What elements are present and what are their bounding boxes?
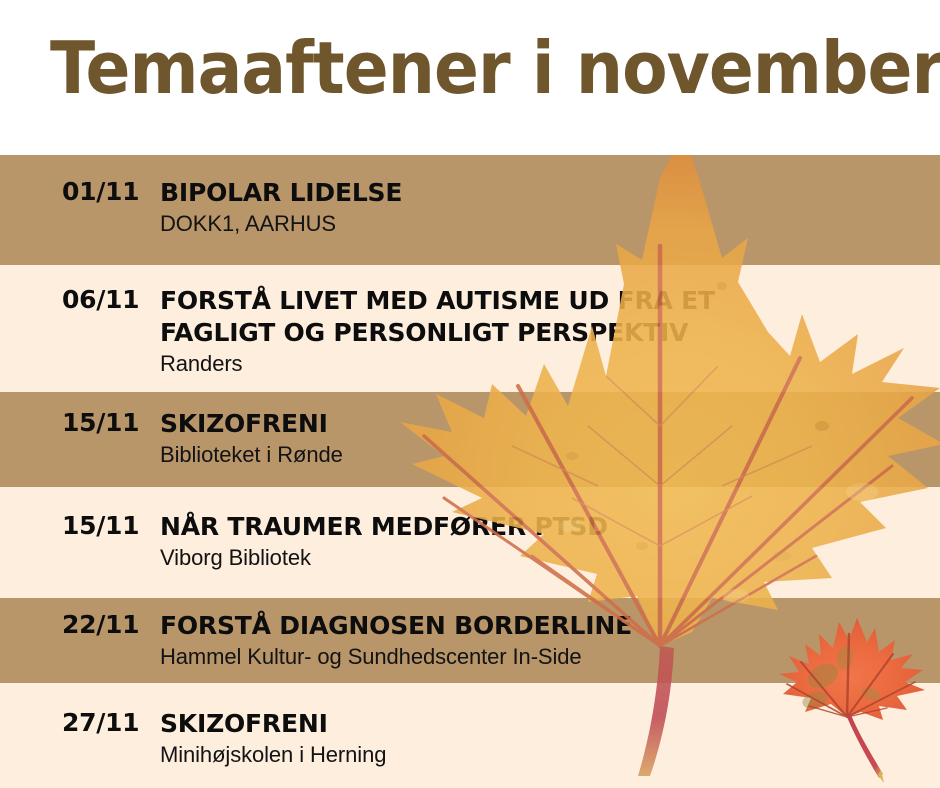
- poster-canvas: 01/11 BIPOLAR LIDELSE DOKK1, AARHUS 06/1…: [0, 0, 940, 788]
- table-row: 22/11 FORSTÅ DIAGNOSEN BORDERLINE Hammel…: [0, 598, 940, 683]
- title-banner: Temaaftener i november: [0, 0, 940, 155]
- row-event-title: FORSTÅ LIVET MED AUTISME UD FRA ET FAGLI…: [160, 285, 920, 349]
- row-event-title: SKIZOFRENI: [160, 408, 920, 440]
- row-date: 06/11: [0, 285, 160, 315]
- table-row: 01/11 BIPOLAR LIDELSE DOKK1, AARHUS: [0, 155, 940, 265]
- page-title: Temaaftener i november: [50, 25, 940, 111]
- row-body: FORSTÅ LIVET MED AUTISME UD FRA ET FAGLI…: [160, 285, 940, 378]
- row-body: SKIZOFRENI Minihøjskolen i Herning: [160, 708, 940, 769]
- row-body: BIPOLAR LIDELSE DOKK1, AARHUS: [160, 177, 940, 238]
- row-date: 22/11: [0, 610, 160, 640]
- row-date: 27/11: [0, 708, 160, 738]
- table-row: 15/11 NÅR TRAUMER MEDFØRER PTSD Viborg B…: [0, 487, 940, 598]
- row-event-title: FORSTÅ DIAGNOSEN BORDERLINE: [160, 610, 920, 642]
- row-venue: Minihøjskolen i Herning: [160, 741, 920, 769]
- row-venue: Hammel Kultur- og Sundhedscenter In-Side: [160, 643, 920, 671]
- row-body: SKIZOFRENI Biblioteket i Rønde: [160, 408, 940, 469]
- row-event-title: SKIZOFRENI: [160, 708, 920, 740]
- schedule-table: 01/11 BIPOLAR LIDELSE DOKK1, AARHUS 06/1…: [0, 155, 940, 788]
- table-row: 15/11 SKIZOFRENI Biblioteket i Rønde: [0, 392, 940, 487]
- row-body: NÅR TRAUMER MEDFØRER PTSD Viborg Bibliot…: [160, 511, 940, 572]
- row-venue: Randers: [160, 350, 920, 378]
- row-date: 01/11: [0, 177, 160, 207]
- row-event-title: BIPOLAR LIDELSE: [160, 177, 920, 209]
- row-venue: Biblioteket i Rønde: [160, 441, 920, 469]
- row-event-title: NÅR TRAUMER MEDFØRER PTSD: [160, 511, 920, 543]
- row-date: 15/11: [0, 408, 160, 438]
- row-venue: DOKK1, AARHUS: [160, 210, 920, 238]
- row-venue: Viborg Bibliotek: [160, 544, 920, 572]
- row-date: 15/11: [0, 511, 160, 541]
- row-body: FORSTÅ DIAGNOSEN BORDERLINE Hammel Kultu…: [160, 610, 940, 671]
- table-row: 27/11 SKIZOFRENI Minihøjskolen i Herning: [0, 683, 940, 788]
- table-row: 06/11 FORSTÅ LIVET MED AUTISME UD FRA ET…: [0, 265, 940, 392]
